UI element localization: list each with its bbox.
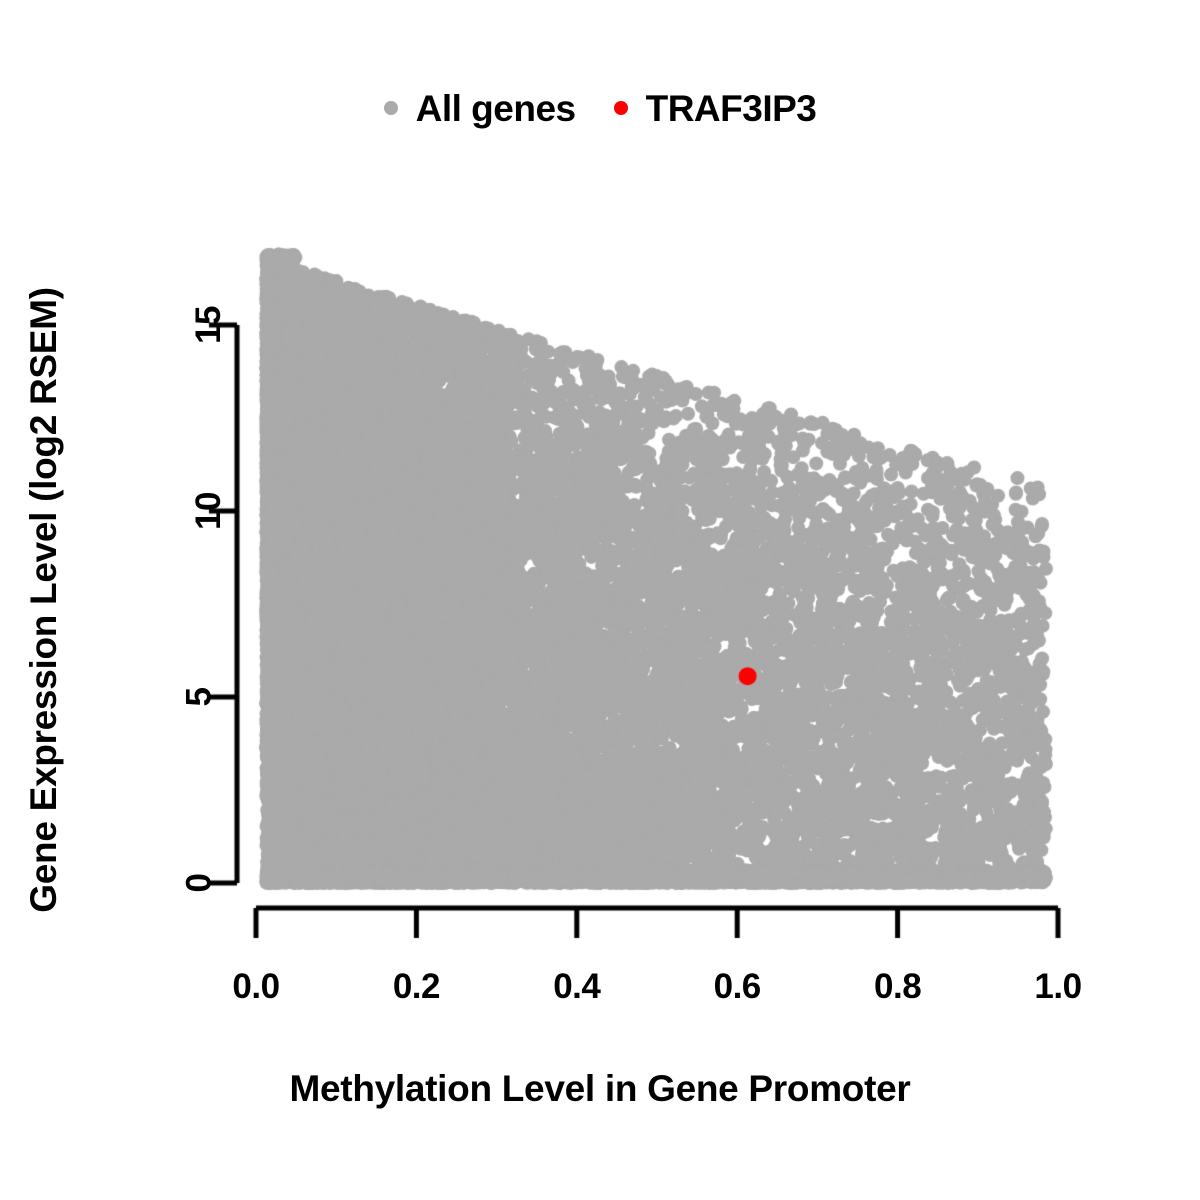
x-tick-label-0: 0.0: [232, 967, 279, 1007]
x-tick-label-5: 1.0: [1034, 967, 1081, 1007]
scatter-plot-figure: All genes TRAF3IP3 Methylation Level in …: [0, 0, 1200, 1200]
x-tick-label-4: 0.8: [874, 967, 921, 1007]
x-tick-label-1: 0.2: [393, 967, 440, 1007]
x-axis-title: Methylation Level in Gene Promoter: [0, 1068, 1200, 1110]
x-tick-label-2: 0.4: [553, 967, 600, 1007]
y-tick-label-2: 10: [189, 492, 229, 530]
y-tick-label-0: 0: [179, 874, 219, 893]
x-tick-label-3: 0.6: [714, 967, 761, 1007]
y-tick-label-1: 5: [179, 688, 219, 707]
y-tick-label-3: 15: [189, 306, 229, 344]
scatter-plot-canvas: [0, 0, 1200, 1200]
